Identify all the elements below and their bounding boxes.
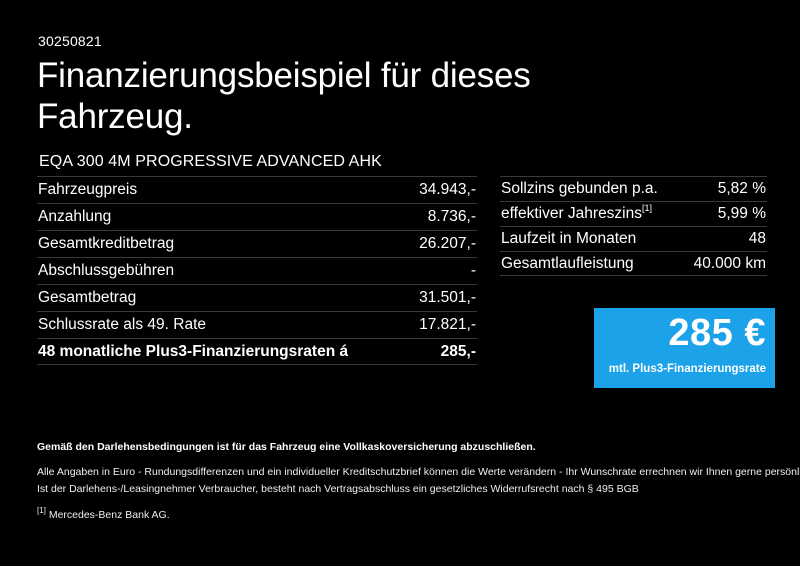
monthly-rate-amount: 285 € (668, 311, 766, 355)
row-label-text: Sollzins gebunden p.a. (501, 180, 658, 197)
row-label: Abschlussgebühren (38, 262, 174, 280)
table-row: Abschlussgebühren - (37, 257, 477, 284)
row-label: Gesamtlaufleistung (501, 255, 634, 273)
row-value: - (471, 262, 476, 280)
footnotes: Gemäß den Darlehensbedingungen ist für d… (37, 441, 777, 522)
finance-example-page: 30250821 Finanzierungsbeispiel für diese… (0, 0, 800, 566)
document-id: 30250821 (38, 33, 102, 49)
row-label: effektiver Jahreszins[1] (501, 205, 652, 223)
row-value: 5,99 % (718, 205, 766, 223)
row-value: 31.501,- (419, 289, 476, 307)
footnote-marker: [1] (642, 203, 652, 213)
row-label-text: Gesamtlaufleistung (501, 255, 634, 272)
row-value: 285,- (441, 343, 476, 361)
row-value: 34.943,- (419, 181, 476, 199)
table-row-monthly-rate: 48 monatliche Plus3-Finanzierungsraten á… (37, 338, 477, 365)
row-value: 48 (749, 230, 766, 248)
footnote-source: [1] Mercedes-Benz Bank AG. (37, 509, 777, 522)
finance-table-right: Sollzins gebunden p.a. 5,82 % effektiver… (500, 176, 767, 276)
table-row: Gesamtkreditbetrag 26.207,- (37, 230, 477, 257)
row-label: Fahrzeugpreis (38, 181, 137, 199)
monthly-rate-badge: 285 € mtl. Plus3-Finanzierungsrate (594, 308, 775, 388)
table-row: Gesamtlaufleistung 40.000 km (500, 251, 767, 276)
row-value: 8.736,- (428, 208, 476, 226)
row-label-text: Laufzeit in Monaten (501, 230, 636, 247)
row-value: 5,82 % (718, 180, 766, 198)
row-value: 40.000 km (694, 255, 766, 273)
footnote-insurance-note: Gemäß den Darlehensbedingungen ist für d… (37, 441, 777, 454)
footnote-line-2: Ist der Darlehens-/Leasingnehmer Verbrau… (37, 481, 777, 498)
table-row: Fahrzeugpreis 34.943,- (37, 176, 477, 203)
vehicle-model-name: EQA 300 4M PROGRESSIVE ADVANCED AHK (39, 152, 382, 172)
table-row: effektiver Jahreszins[1] 5,99 % (500, 201, 767, 226)
row-label: Gesamtbetrag (38, 289, 136, 307)
row-label: Schlussrate als 49. Rate (38, 316, 206, 334)
monthly-rate-caption: mtl. Plus3-Finanzierungsrate (609, 362, 766, 376)
table-row: Schlussrate als 49. Rate 17.821,- (37, 311, 477, 338)
footnote-source-text: Mercedes-Benz Bank AG. (49, 509, 170, 521)
table-row: Anzahlung 8.736,- (37, 203, 477, 230)
footnote-line-1: Alle Angaben in Euro - Rundungsdifferenz… (37, 464, 777, 481)
row-label: Anzahlung (38, 208, 111, 226)
finance-table-left: Fahrzeugpreis 34.943,- Anzahlung 8.736,-… (37, 176, 477, 365)
row-value: 17.821,- (419, 316, 476, 334)
table-row: Gesamtbetrag 31.501,- (37, 284, 477, 311)
row-value: 26.207,- (419, 235, 476, 253)
footnote-marker: [1] (37, 506, 46, 515)
row-label-text: effektiver Jahreszins (501, 205, 642, 222)
table-row: Sollzins gebunden p.a. 5,82 % (500, 176, 767, 201)
row-label: Gesamtkreditbetrag (38, 235, 174, 253)
row-label: Laufzeit in Monaten (501, 230, 636, 248)
row-label: 48 monatliche Plus3-Finanzierungsraten á (38, 343, 348, 361)
table-row: Laufzeit in Monaten 48 (500, 226, 767, 251)
row-label: Sollzins gebunden p.a. (501, 180, 658, 198)
page-title: Finanzierungsbeispiel für dieses Fahrzeu… (37, 55, 577, 137)
